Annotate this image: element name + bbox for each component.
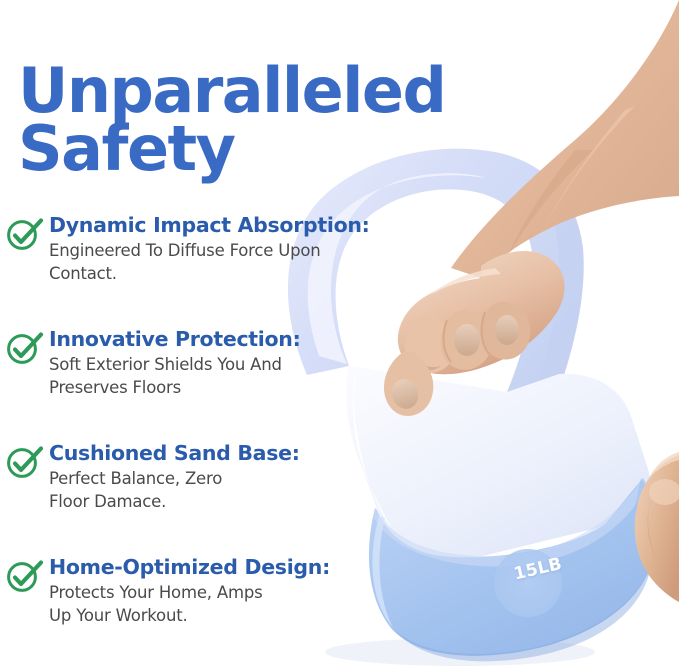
feature-item-dynamic-impact-absorption: Dynamic Impact Absorption: Engineered To…: [6, 213, 406, 309]
feature-description-line-2: Contact.: [49, 262, 406, 285]
feature-description: Perfect Balance, Zero Floor Damace.: [49, 467, 406, 513]
green-check-circle-icon: [6, 445, 44, 479]
feature-list: Dynamic Impact Absorption: Engineered To…: [6, 213, 406, 668]
feature-description-line-1: Engineered To Diffuse Force Upon: [49, 239, 406, 262]
feature-title: Innovative Protection:: [49, 327, 406, 351]
feature-title: Dynamic Impact Absorption:: [49, 213, 406, 237]
feature-description-line-1: Perfect Balance, Zero: [49, 467, 406, 490]
page-title-line-2: Safety: [18, 120, 538, 179]
feature-description-line-2: Up Your Workout.: [49, 604, 406, 627]
green-check-circle-icon: [6, 331, 44, 365]
feature-description-line-2: Preserves Floors: [49, 376, 406, 399]
feature-description-line-1: Protects Your Home, Amps: [49, 581, 406, 604]
feature-description-line-2: Floor Damace.: [49, 490, 406, 513]
feature-item-cushioned-sand-base: Cushioned Sand Base: Perfect Balance, Ze…: [6, 441, 406, 537]
product-feature-infographic: 15LB Unparalleled Safety Dynamic Impact …: [0, 0, 679, 668]
feature-description: Soft Exterior Shields You And Preserves …: [49, 353, 406, 399]
feature-title: Home-Optimized Design:: [49, 555, 406, 579]
feature-title: Cushioned Sand Base:: [49, 441, 406, 465]
feature-description: Protects Your Home, Amps Up Your Workout…: [49, 581, 406, 627]
green-check-circle-icon: [6, 217, 44, 251]
feature-description: Engineered To Diffuse Force Upon Contact…: [49, 239, 406, 285]
feature-description-line-1: Soft Exterior Shields You And: [49, 353, 406, 376]
page-title: Unparalleled Safety: [18, 62, 538, 180]
feature-item-home-optimized-design: Home-Optimized Design: Protects Your Hom…: [6, 555, 406, 651]
green-check-circle-icon: [6, 559, 44, 593]
feature-item-innovative-protection: Innovative Protection: Soft Exterior Shi…: [6, 327, 406, 423]
